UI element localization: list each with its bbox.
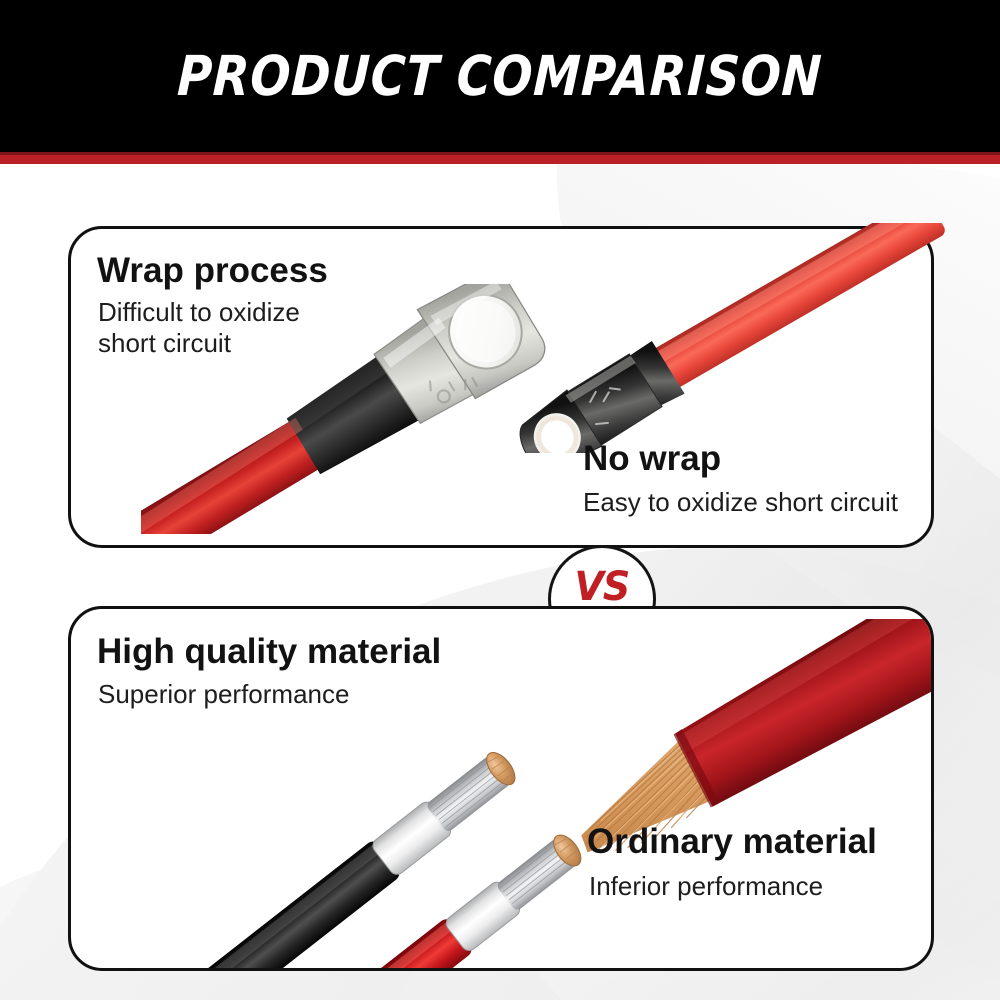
page-title: PRODUCT COMPARISON bbox=[176, 49, 823, 104]
product-comparison-infographic: PRODUCT COMPARISON bbox=[0, 0, 1000, 1000]
card-material-good-subline: Superior performance bbox=[98, 679, 349, 710]
card-wrap-good-subline: Difficult to oxidize short circuit bbox=[98, 297, 300, 358]
card-wrap-bad-headline: No wrap bbox=[583, 441, 721, 478]
card-wrap-bad-subline: Easy to oxidize short circuit bbox=[583, 487, 898, 518]
comparison-card-material: High quality material Superior performan… bbox=[68, 606, 934, 971]
card-material-good-headline: High quality material bbox=[97, 634, 441, 671]
card-material-bad-headline: Ordinary material bbox=[587, 824, 877, 861]
header-banner: PRODUCT COMPARISON bbox=[0, 0, 1000, 152]
unwrapped-ring-terminal-icon bbox=[501, 223, 961, 453]
card-wrap-good-headline: Wrap process bbox=[97, 253, 328, 290]
card-material-clip: High quality material Superior performan… bbox=[71, 609, 931, 968]
header-accent-stripe bbox=[0, 155, 1000, 164]
vs-badge-process-text: VS bbox=[575, 569, 630, 606]
card-material-bad-subline: Inferior performance bbox=[589, 871, 823, 902]
comparison-card-wrap-process: Wrap process Difficult to oxidize short … bbox=[68, 226, 934, 548]
